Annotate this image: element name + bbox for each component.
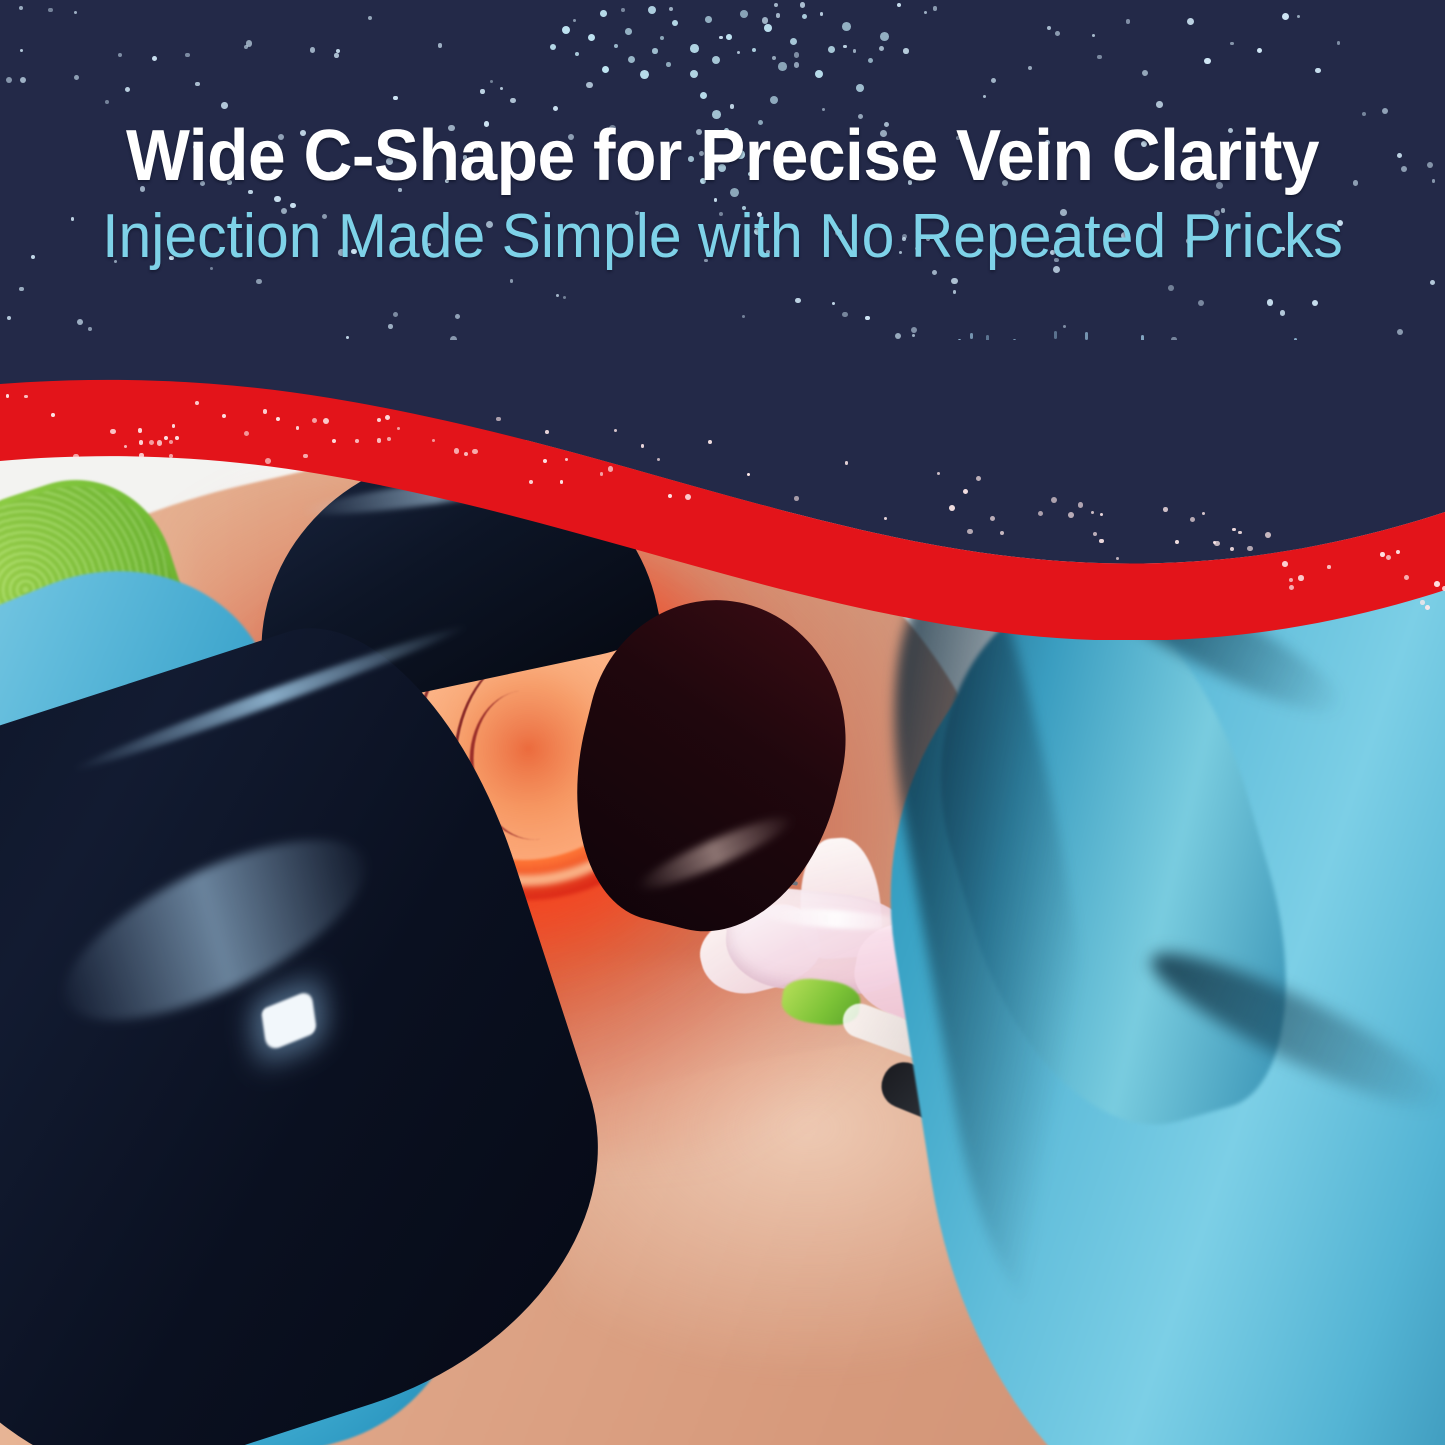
star-dot [74, 75, 79, 80]
star-tick [1010, 349, 1013, 356]
star-tick [970, 333, 973, 339]
star-dot [776, 13, 781, 18]
star-dot [1304, 434, 1308, 438]
star-tick [1090, 417, 1093, 427]
star-dot [48, 8, 52, 12]
star-tick [1164, 400, 1167, 410]
star-tick [1266, 380, 1269, 387]
star-tick [1111, 384, 1114, 393]
star-dot [1280, 310, 1285, 315]
star-tick [1401, 409, 1404, 416]
page-subtitle: Injection Made Simple with No Repeated P… [36, 202, 1409, 272]
star-tick [1003, 408, 1006, 418]
star-dot [152, 56, 157, 61]
star-dot [510, 279, 513, 282]
star-tick [1141, 335, 1144, 343]
star-dot [586, 82, 593, 89]
star-dot-map [562, 26, 570, 34]
star-tick [1169, 363, 1172, 370]
star-tick [1250, 350, 1253, 357]
star-dot-map [856, 84, 864, 92]
star-tick [1172, 351, 1175, 357]
star-dot [762, 17, 768, 23]
star-tick [1322, 357, 1325, 367]
star-dot [895, 333, 901, 339]
star-tick [1243, 349, 1246, 356]
star-dot [73, 362, 77, 366]
star-dot [800, 2, 806, 8]
star-dot [573, 19, 576, 22]
star-tick [1342, 416, 1345, 422]
star-dot-map [588, 34, 595, 41]
star-dot [866, 350, 871, 355]
star-tick [1399, 344, 1402, 351]
star-dot [490, 80, 494, 84]
star-dot [933, 6, 938, 11]
star-dot [1337, 41, 1341, 45]
star-dot [1257, 48, 1262, 53]
star-dot [1047, 26, 1051, 30]
page-title: Wide C-Shape for Precise Vein Clarity [43, 116, 1401, 196]
star-tick [1110, 348, 1113, 354]
star-dot [1238, 389, 1241, 392]
star-tick [1085, 332, 1088, 340]
star-dot [388, 324, 393, 329]
star-dot [788, 395, 792, 399]
star-tick [1400, 422, 1403, 428]
star-dot [1204, 58, 1210, 64]
star-tick [1235, 414, 1238, 423]
star-dot-map [666, 62, 671, 67]
star-tick [1415, 358, 1418, 367]
star-dot [1132, 403, 1139, 410]
star-dot [853, 49, 857, 53]
star-dot [644, 384, 648, 388]
star-dot [924, 11, 927, 14]
star-dot [92, 349, 99, 356]
star-dot [150, 368, 153, 371]
star-dot [553, 106, 558, 111]
star-dot [334, 53, 338, 57]
star-dot [336, 49, 340, 53]
star-dot [730, 104, 734, 108]
star-dot [1171, 382, 1176, 387]
star-tick [1428, 416, 1431, 426]
star-dot-map [625, 28, 632, 35]
star-dot [185, 53, 190, 58]
star-dot [1097, 55, 1102, 60]
star-dot [1297, 15, 1300, 18]
header-text-block: Wide C-Shape for Precise Vein Clarity In… [0, 116, 1445, 272]
star-dot-map [726, 34, 732, 40]
star-dot [510, 98, 516, 104]
star-dot [1382, 108, 1388, 114]
star-tick [958, 339, 961, 348]
star-dot [1267, 299, 1274, 306]
star-tick [1359, 407, 1362, 415]
star-dot [1230, 42, 1233, 45]
star-dot [556, 294, 559, 297]
star-tick [1134, 343, 1137, 351]
star-dot [455, 314, 460, 319]
star-dot [20, 49, 24, 53]
star-dot-map [550, 44, 556, 50]
star-dot [42, 392, 48, 398]
star-dot [795, 298, 800, 303]
star-tick [1295, 421, 1298, 430]
star-dot [609, 431, 615, 437]
star-tick [1198, 341, 1201, 351]
star-tick [1337, 356, 1340, 364]
star-dot [669, 7, 673, 11]
star-dot-map [652, 48, 658, 54]
star-dot [740, 386, 746, 392]
star-dot [77, 319, 83, 325]
star-tick [1241, 416, 1244, 422]
star-tick [1328, 402, 1331, 411]
star-tick [1431, 388, 1434, 398]
star-dot [19, 6, 23, 10]
star-dot [801, 418, 806, 423]
star-dot [897, 3, 902, 8]
star-tick [1079, 380, 1082, 390]
star-dot [122, 366, 126, 370]
star-dot [772, 56, 776, 60]
star-tick [1079, 354, 1082, 364]
star-dot-map [752, 48, 756, 52]
star-dot [244, 45, 249, 50]
star-tick [1114, 368, 1117, 378]
star-tick [1120, 427, 1123, 434]
star-dot [1198, 300, 1204, 306]
star-tick [1275, 431, 1278, 440]
star-dot [774, 3, 779, 8]
star-dot [94, 405, 101, 412]
star-tick [1434, 406, 1437, 412]
star-dot-map [672, 20, 678, 26]
star-tick [1335, 426, 1338, 431]
star-dot [68, 355, 73, 360]
star-dot [971, 418, 975, 422]
product-photo [0, 440, 1445, 1445]
star-tick [1358, 423, 1361, 431]
star-dot [597, 409, 601, 413]
star-dot [1335, 378, 1341, 384]
star-tick [1013, 339, 1016, 349]
star-dot-map [815, 70, 823, 78]
star-dot [125, 87, 130, 92]
star-dot [904, 432, 909, 437]
star-dot-map [828, 46, 835, 53]
star-tick [1261, 393, 1264, 400]
star-dot [197, 358, 202, 363]
star-tick [1060, 416, 1063, 424]
star-dot [346, 336, 349, 339]
star-dot [842, 312, 847, 317]
star-tick [978, 350, 981, 357]
star-dot [1397, 329, 1403, 335]
star-dot [450, 336, 457, 343]
star-dot [823, 356, 828, 361]
star-dot [983, 95, 986, 98]
star-dot [953, 290, 957, 294]
star-tick [1305, 402, 1308, 411]
star-tick [1436, 374, 1439, 383]
star-dot-map [712, 56, 720, 64]
star-tick [995, 347, 998, 353]
star-dot [653, 362, 658, 367]
star-dot [879, 46, 884, 51]
star-tick [1204, 368, 1207, 376]
star-dot [822, 108, 825, 111]
star-dot [683, 434, 688, 439]
star-dot [480, 89, 484, 93]
star-dot-map [705, 16, 712, 23]
star-dot [253, 367, 257, 371]
star-dot [438, 43, 443, 48]
star-dot [256, 279, 262, 285]
star-dot [1187, 18, 1194, 25]
product-banner: Wide C-Shape for Precise Vein Clarity In… [0, 0, 1445, 1445]
star-dot [742, 315, 745, 318]
star-dot [945, 346, 949, 350]
star-dot-map [842, 22, 851, 31]
star-dot-map [690, 44, 699, 53]
star-dot [74, 11, 77, 14]
star-dot [1315, 68, 1320, 73]
star-dot [710, 355, 714, 359]
star-dot [1312, 300, 1318, 306]
star-dot-map [660, 36, 664, 40]
star-dot [906, 362, 913, 369]
star-dot-map [602, 66, 609, 73]
star-dot-map [614, 44, 618, 48]
star-dot [393, 312, 398, 317]
star-dot [1282, 13, 1289, 20]
star-dot-map [868, 58, 873, 63]
star-dot-map [600, 10, 607, 17]
star-dot [1142, 70, 1148, 76]
star-dot [393, 96, 398, 101]
star-tick [1072, 341, 1075, 349]
star-dot [1196, 351, 1200, 355]
star-dot-map [690, 70, 698, 78]
star-dot [330, 353, 333, 356]
star-tick [1294, 338, 1297, 346]
star-tick [1043, 382, 1046, 388]
star-dot [794, 62, 799, 67]
star-dot [132, 358, 138, 364]
star-tick [1324, 416, 1327, 425]
star-dot [1168, 285, 1174, 291]
star-tick [1295, 374, 1298, 381]
star-tick [995, 426, 998, 432]
star-dot-map [700, 92, 707, 99]
star-dot [195, 82, 200, 87]
star-dot-map [628, 56, 635, 63]
star-tick [1203, 386, 1206, 394]
star-dot [1171, 337, 1177, 343]
star-dot [1364, 423, 1367, 426]
star-dot-map [740, 10, 748, 18]
star-dot [681, 378, 686, 383]
star-tick [1338, 410, 1341, 415]
star-tick [1191, 352, 1194, 361]
star-dot [1028, 66, 1032, 70]
star-tick [1155, 409, 1158, 419]
star-dot [911, 327, 917, 333]
star-tick [1372, 374, 1375, 379]
star-tick [1054, 331, 1057, 339]
star-dot [737, 51, 740, 54]
star-dot [912, 334, 915, 337]
star-tick [961, 389, 964, 394]
star-tick [1021, 392, 1024, 401]
star-tick [1000, 421, 1003, 426]
star-dot [1092, 34, 1095, 37]
star-dot [310, 47, 316, 53]
star-dot-map [575, 52, 579, 56]
star-dot-map [778, 62, 787, 71]
star-tick [1313, 348, 1316, 353]
star-dot [991, 78, 996, 83]
star-dot [843, 45, 847, 49]
star-dot [1156, 101, 1163, 108]
star-tick [1412, 427, 1415, 437]
star-dot [1299, 376, 1304, 381]
star-tick [1033, 358, 1036, 365]
star-dot [232, 379, 237, 384]
star-dot [820, 372, 825, 377]
star-dot [1430, 280, 1435, 285]
star-tick [1066, 426, 1069, 433]
star-dot [410, 420, 414, 424]
star-dot-map [802, 14, 807, 19]
star-dot [6, 77, 12, 83]
star-dot [794, 52, 799, 57]
star-tick [1228, 427, 1231, 435]
star-dot-map [764, 24, 772, 32]
star-dot [621, 8, 625, 12]
star-dot [951, 278, 958, 285]
star-dot [739, 402, 742, 405]
star-tick [1298, 350, 1301, 356]
star-dot [1045, 375, 1052, 382]
star-dot [903, 48, 909, 54]
star-dot-map [640, 70, 649, 79]
star-dot [1063, 325, 1067, 329]
star-tick [1341, 341, 1344, 351]
star-dot [1320, 434, 1323, 437]
star-dot-map [770, 96, 778, 104]
star-dot [1123, 343, 1129, 349]
star-dot [88, 327, 92, 331]
star-dot [20, 77, 26, 83]
star-dot [7, 316, 11, 320]
star-dot [945, 386, 952, 393]
star-tick [1016, 433, 1019, 439]
star-tick [1318, 346, 1321, 356]
star-dot [865, 316, 870, 321]
star-dot [1320, 340, 1325, 345]
star-dot [1110, 434, 1116, 440]
star-dot [221, 102, 228, 109]
star-dot [105, 100, 110, 105]
star-dot [1328, 344, 1333, 349]
star-tick [1223, 368, 1226, 377]
star-dot [470, 378, 474, 382]
star-tick [1137, 429, 1140, 435]
star-dot-map [790, 38, 797, 45]
star-dot [1126, 19, 1131, 24]
star-tick [1066, 412, 1069, 420]
star-tick [1087, 365, 1090, 372]
star-dot [276, 376, 281, 381]
star-dot [1055, 31, 1060, 36]
star-dot [500, 87, 503, 90]
star-tick [1015, 351, 1018, 358]
star-tick [1090, 354, 1093, 360]
star-dot [118, 53, 122, 57]
star-dot [563, 296, 566, 299]
star-dot-map [880, 32, 889, 41]
star-dot [113, 387, 117, 391]
star-tick [1086, 341, 1089, 347]
star-tick [1150, 372, 1153, 380]
star-dot-map [648, 6, 656, 14]
star-dot [431, 428, 437, 434]
star-dot [719, 36, 722, 39]
star-dot [368, 16, 372, 20]
star-dot [832, 302, 835, 305]
star-dot [19, 287, 23, 291]
star-tick [989, 419, 992, 425]
star-dot [820, 12, 824, 16]
star-tick [986, 335, 989, 341]
star-dot [592, 406, 597, 411]
